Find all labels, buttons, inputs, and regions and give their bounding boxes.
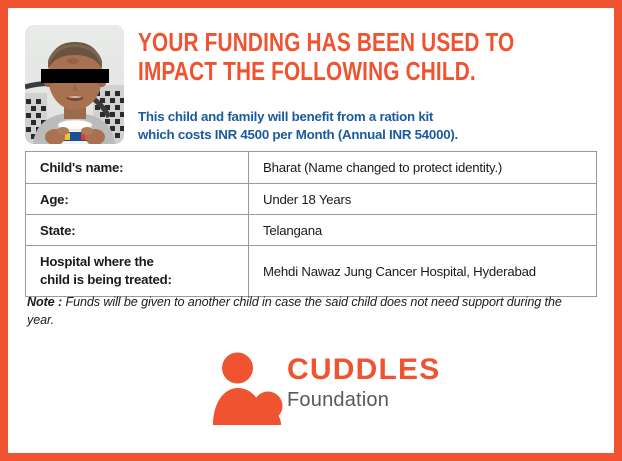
table-row: Child's name: Bharat (Name changed to pr…	[26, 152, 597, 184]
card-inner: YOUR FUNDING HAS BEEN USED TO IMPACT THE…	[8, 8, 614, 453]
note-body: Funds will be given to another child in …	[27, 295, 562, 327]
certificate-card: YOUR FUNDING HAS BEEN USED TO IMPACT THE…	[0, 0, 622, 461]
parent-and-child-icon	[211, 352, 283, 426]
logo-word-foundation: Foundation	[287, 388, 447, 412]
table-row: State: Telangana	[26, 215, 597, 246]
logo-word-cuddles: CUDDLES	[287, 354, 447, 386]
subheadline-line-1: This child and family will benefit from …	[138, 108, 608, 126]
row-label-hospital: Hospital where the child is being treate…	[26, 246, 249, 297]
subheadline: This child and family will benefit from …	[138, 108, 608, 144]
row-label-age: Age:	[26, 184, 249, 215]
row-value-state: Telangana	[249, 215, 597, 246]
row-value-hospital: Mehdi Nawaz Jung Cancer Hospital, Hydera…	[249, 246, 597, 297]
child-details-table: Child's name: Bharat (Name changed to pr…	[25, 151, 597, 297]
table-row: Hospital where the child is being treate…	[26, 246, 597, 297]
row-value-child-name: Bharat (Name changed to protect identity…	[249, 152, 597, 184]
row-label-state: State:	[26, 215, 249, 246]
logo-wordmark: CUDDLES Foundation	[287, 354, 447, 412]
cuddles-foundation-logo: CUDDLES Foundation	[211, 348, 446, 430]
child-photo	[25, 25, 124, 144]
row-label-child-name: Child's name:	[26, 152, 249, 184]
headline-line-1: YOUR FUNDING HAS BEEN USED TO	[138, 28, 506, 57]
headline-line-2: IMPACT THE FOLLOWING CHILD.	[138, 57, 506, 86]
subheadline-line-2: which costs INR 4500 per Month (Annual I…	[138, 126, 608, 144]
row-label-hospital-line-2: child is being treated:	[40, 272, 172, 287]
row-label-hospital-line-1: Hospital where the	[40, 254, 154, 269]
header-section: YOUR FUNDING HAS BEEN USED TO IMPACT THE…	[25, 25, 597, 153]
row-value-age: Under 18 Years	[249, 184, 597, 215]
table-row: Age: Under 18 Years	[26, 184, 597, 215]
headline: YOUR FUNDING HAS BEEN USED TO IMPACT THE…	[138, 28, 506, 86]
note-text: Note : Funds will be given to another ch…	[27, 293, 587, 329]
note-prefix: Note :	[27, 295, 62, 309]
